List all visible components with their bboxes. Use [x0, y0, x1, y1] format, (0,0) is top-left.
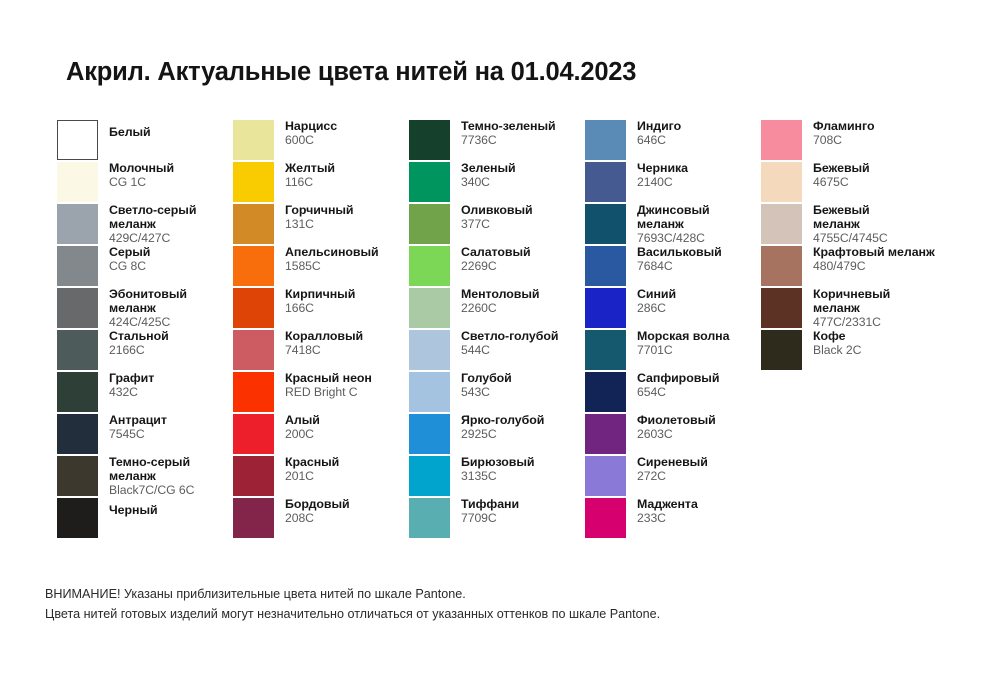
color-row[interactable]: Бежевыймеланж4755C/4745C — [761, 204, 957, 246]
color-row[interactable]: Черный — [57, 498, 233, 540]
color-code: 116C — [285, 176, 335, 190]
color-row[interactable]: Светло-серыймеланж429C/427C — [57, 204, 233, 246]
color-code: CG 8C — [109, 260, 150, 274]
color-labels: Бордовый208C — [285, 498, 350, 526]
color-row[interactable]: Темно-зеленый7736C — [409, 120, 585, 162]
color-code: Black 2C — [813, 344, 861, 358]
color-code: 432C — [109, 386, 154, 400]
color-name: Зеленый — [461, 162, 516, 176]
color-row[interactable]: Джинсовыймеланж7693C/428C — [585, 204, 761, 246]
color-labels: Белый — [109, 120, 151, 140]
color-swatch[interactable] — [233, 456, 274, 496]
color-code: 544C — [461, 344, 558, 358]
color-name: Антрацит — [109, 414, 167, 428]
color-swatch[interactable] — [233, 162, 274, 202]
color-chart-page: Акрил. Актуальные цвета нитей на 01.04.2… — [0, 0, 1000, 684]
color-code: 424C/425C — [109, 316, 187, 330]
color-row[interactable]: Горчичный131C — [233, 204, 409, 246]
color-swatch[interactable] — [409, 456, 450, 496]
color-labels: Бежевыймеланж4755C/4745C — [813, 204, 888, 245]
color-labels: Апельсиновый1585C — [285, 246, 379, 274]
color-name: Алый — [285, 414, 320, 428]
color-name: Темно-зеленый — [461, 120, 556, 134]
color-swatch[interactable] — [57, 162, 98, 202]
color-code: 4755C/4745C — [813, 232, 888, 246]
color-row[interactable]: Красный неонRED Bright C — [233, 372, 409, 414]
color-labels: Коралловый7418C — [285, 330, 363, 358]
color-swatch[interactable] — [585, 120, 626, 160]
footer-line-1: ВНИМАНИЕ! Указаны приблизительные цвета … — [45, 585, 660, 605]
color-labels: Черника2140C — [637, 162, 688, 190]
color-labels: Джинсовыймеланж7693C/428C — [637, 204, 710, 245]
color-row[interactable]: Коричневыймеланж477C/2331C — [761, 288, 957, 330]
color-labels: КофеBlack 2C — [813, 330, 861, 358]
color-swatch[interactable] — [585, 162, 626, 202]
color-name: Тиффани — [461, 498, 519, 512]
color-row[interactable]: Бордовый208C — [233, 498, 409, 540]
color-row[interactable]: Апельсиновый1585C — [233, 246, 409, 288]
color-name: Светло-голубой — [461, 330, 558, 344]
color-code: 7684C — [637, 260, 722, 274]
color-name: Горчичный — [285, 204, 353, 218]
color-code: 4675C — [813, 176, 870, 190]
color-labels: Бирюзовый3135C — [461, 456, 534, 484]
color-row[interactable]: Ментоловый2260C — [409, 288, 585, 330]
color-name: Ментоловый — [461, 288, 539, 302]
color-code: 708C — [813, 134, 874, 148]
color-code: CG 1C — [109, 176, 174, 190]
color-labels: Коричневыймеланж477C/2331C — [813, 288, 890, 329]
color-name: Красный — [285, 456, 339, 470]
color-swatch[interactable] — [761, 246, 802, 286]
color-labels: Алый200C — [285, 414, 320, 442]
color-labels: Нарцисс600C — [285, 120, 337, 148]
color-name: меланж — [109, 218, 196, 232]
color-labels: Графит432C — [109, 372, 154, 400]
color-labels: Сапфировый654C — [637, 372, 719, 400]
color-code: 340C — [461, 176, 516, 190]
color-code: 7545C — [109, 428, 167, 442]
color-name: Кофе — [813, 330, 861, 344]
color-name: Эбонитовый — [109, 288, 187, 302]
color-labels: Бежевый4675C — [813, 162, 870, 190]
color-labels: Зеленый340C — [461, 162, 516, 190]
color-code: 201C — [285, 470, 339, 484]
color-labels: Васильковый7684C — [637, 246, 722, 274]
column-blues: Индиго646CЧерника2140CДжинсовыймеланж769… — [585, 120, 761, 540]
column-warm: Нарцисс600CЖелтый116CГорчичный131CАпельс… — [233, 120, 409, 540]
color-name: Темно-серый — [109, 456, 194, 470]
color-labels: СерыйCG 8C — [109, 246, 150, 274]
color-row[interactable]: МолочныйCG 1C — [57, 162, 233, 204]
color-name: Коричневый — [813, 288, 890, 302]
footer-line-2: Цвета нитей готовых изделий могут незнач… — [45, 605, 660, 625]
color-row[interactable]: Кирпичный166C — [233, 288, 409, 330]
color-code: 7701C — [637, 344, 729, 358]
color-swatch[interactable] — [57, 204, 98, 244]
color-name: Васильковый — [637, 246, 722, 260]
color-labels: Красный201C — [285, 456, 339, 484]
color-code: 272C — [637, 470, 708, 484]
color-row[interactable]: Сиреневый272C — [585, 456, 761, 498]
color-labels: Крафтовый меланж480/479C — [813, 246, 935, 274]
color-labels: Морская волна7701C — [637, 330, 729, 358]
color-swatch[interactable] — [761, 204, 802, 244]
color-labels: Стальной2166C — [109, 330, 169, 358]
color-name: Красный неон — [285, 372, 372, 386]
color-code: Black7C/CG 6C — [109, 484, 194, 498]
color-code: 543C — [461, 386, 512, 400]
color-swatch[interactable] — [585, 456, 626, 496]
color-row[interactable]: Черника2140C — [585, 162, 761, 204]
color-labels: Горчичный131C — [285, 204, 353, 232]
color-labels: Индиго646C — [637, 120, 681, 148]
color-swatch[interactable] — [761, 288, 802, 328]
color-name: Желтый — [285, 162, 335, 176]
color-name: Голубой — [461, 372, 512, 386]
color-swatch[interactable] — [409, 162, 450, 202]
color-name: Крафтовый меланж — [813, 246, 935, 260]
color-name: Бирюзовый — [461, 456, 534, 470]
color-code: 2260C — [461, 302, 539, 316]
color-row[interactable]: Крафтовый меланж480/479C — [761, 246, 957, 288]
color-name: Бежевый — [813, 204, 888, 218]
color-name: Бежевый — [813, 162, 870, 176]
color-row[interactable]: Маджента233C — [585, 498, 761, 540]
color-name: Черника — [637, 162, 688, 176]
color-name: Оливковый — [461, 204, 533, 218]
color-swatch[interactable] — [585, 246, 626, 286]
color-labels: Черный — [109, 498, 158, 518]
color-swatch[interactable] — [57, 456, 98, 496]
footer-note: ВНИМАНИЕ! Указаны приблизительные цвета … — [45, 585, 660, 624]
color-row[interactable]: Сапфировый654C — [585, 372, 761, 414]
color-labels: Маджента233C — [637, 498, 698, 526]
color-swatch[interactable] — [585, 414, 626, 454]
color-swatch[interactable] — [409, 414, 450, 454]
color-swatch[interactable] — [57, 330, 98, 370]
column-neutrals: БелыйМолочныйCG 1CСветло-серыймеланж429C… — [57, 120, 233, 540]
color-code: 377C — [461, 218, 533, 232]
color-swatch[interactable] — [233, 120, 274, 160]
color-row[interactable]: Голубой543C — [409, 372, 585, 414]
color-labels: Антрацит7545C — [109, 414, 167, 442]
color-name: Маджента — [637, 498, 698, 512]
color-code: 480/479C — [813, 260, 935, 274]
color-swatch[interactable] — [233, 204, 274, 244]
color-name: меланж — [637, 218, 710, 232]
color-swatch[interactable] — [57, 120, 98, 160]
color-row[interactable]: Ярко-голубой2925C — [409, 414, 585, 456]
color-name: Бордовый — [285, 498, 350, 512]
color-labels: Фиолетовый2603C — [637, 414, 716, 442]
color-name: Сапфировый — [637, 372, 719, 386]
color-name: Морская волна — [637, 330, 729, 344]
color-labels: Синий286C — [637, 288, 676, 316]
color-row[interactable]: Оливковый377C — [409, 204, 585, 246]
color-row[interactable]: СерыйCG 8C — [57, 246, 233, 288]
color-code: 7736C — [461, 134, 556, 148]
color-labels: Светло-серыймеланж429C/427C — [109, 204, 196, 245]
color-labels: Голубой543C — [461, 372, 512, 400]
color-code: RED Bright C — [285, 386, 372, 400]
color-swatch[interactable] — [585, 288, 626, 328]
color-code: 600C — [285, 134, 337, 148]
color-labels: Ментоловый2260C — [461, 288, 539, 316]
color-swatch[interactable] — [409, 246, 450, 286]
color-swatch[interactable] — [761, 162, 802, 202]
color-name: Фламинго — [813, 120, 874, 134]
color-code: 286C — [637, 302, 676, 316]
color-code: 2925C — [461, 428, 544, 442]
color-row[interactable]: Коралловый7418C — [233, 330, 409, 372]
color-swatch[interactable] — [57, 414, 98, 454]
color-name: Светло-серый — [109, 204, 196, 218]
color-row[interactable]: Фламинго708C — [761, 120, 957, 162]
color-labels: Сиреневый272C — [637, 456, 708, 484]
color-code: 166C — [285, 302, 355, 316]
color-swatch[interactable] — [57, 246, 98, 286]
color-code: 208C — [285, 512, 350, 526]
color-labels: Красный неонRED Bright C — [285, 372, 372, 400]
color-name: Черный — [109, 498, 158, 518]
color-name: Ярко-голубой — [461, 414, 544, 428]
color-swatch[interactable] — [409, 372, 450, 412]
color-row[interactable]: Нарцисс600C — [233, 120, 409, 162]
color-row[interactable]: Стальной2166C — [57, 330, 233, 372]
color-swatch[interactable] — [233, 246, 274, 286]
color-labels: МолочныйCG 1C — [109, 162, 174, 190]
color-labels: Темно-серыймеланжBlack7C/CG 6C — [109, 456, 194, 497]
color-name: Салатовый — [461, 246, 531, 260]
color-swatch[interactable] — [585, 372, 626, 412]
color-code: 7709C — [461, 512, 519, 526]
color-row[interactable]: Зеленый340C — [409, 162, 585, 204]
color-row[interactable]: Тиффани7709C — [409, 498, 585, 540]
color-row[interactable]: Темно-серыймеланжBlack7C/CG 6C — [57, 456, 233, 498]
color-labels: Темно-зеленый7736C — [461, 120, 556, 148]
color-row[interactable]: Красный201C — [233, 456, 409, 498]
color-swatch[interactable] — [57, 372, 98, 412]
color-name: Графит — [109, 372, 154, 386]
color-code: 233C — [637, 512, 698, 526]
color-name: Кирпичный — [285, 288, 355, 302]
color-swatch[interactable] — [585, 498, 626, 538]
color-swatch[interactable] — [233, 372, 274, 412]
color-code: 2603C — [637, 428, 716, 442]
color-name: Индиго — [637, 120, 681, 134]
color-swatch[interactable] — [233, 414, 274, 454]
color-row[interactable]: Васильковый7684C — [585, 246, 761, 288]
color-row[interactable]: Белый — [57, 120, 233, 162]
column-greens: Темно-зеленый7736CЗеленый340CОливковый37… — [409, 120, 585, 540]
column-browns: Фламинго708CБежевый4675CБежевыймеланж475… — [761, 120, 957, 372]
color-name: Молочный — [109, 162, 174, 176]
color-labels: Салатовый2269C — [461, 246, 531, 274]
color-code: 654C — [637, 386, 719, 400]
color-swatch[interactable] — [585, 330, 626, 370]
color-swatch[interactable] — [233, 288, 274, 328]
color-code: 2140C — [637, 176, 688, 190]
swatch-columns: БелыйМолочныйCG 1CСветло-серыймеланж429C… — [57, 120, 957, 540]
color-name: Нарцисс — [285, 120, 337, 134]
color-code: 477C/2331C — [813, 316, 890, 330]
color-labels: Эбонитовыймеланж424C/425C — [109, 288, 187, 329]
color-name: Серый — [109, 246, 150, 260]
color-labels: Кирпичный166C — [285, 288, 355, 316]
color-row[interactable]: Алый200C — [233, 414, 409, 456]
color-name: Фиолетовый — [637, 414, 716, 428]
color-row[interactable]: Антрацит7545C — [57, 414, 233, 456]
color-code: 7693C/428C — [637, 232, 710, 246]
color-code: 2166C — [109, 344, 169, 358]
color-code: 200C — [285, 428, 320, 442]
color-row[interactable]: Желтый116C — [233, 162, 409, 204]
color-swatch[interactable] — [409, 330, 450, 370]
color-swatch[interactable] — [409, 204, 450, 244]
color-row[interactable]: Морская волна7701C — [585, 330, 761, 372]
color-row[interactable]: Салатовый2269C — [409, 246, 585, 288]
color-name: Коралловый — [285, 330, 363, 344]
color-labels: Ярко-голубой2925C — [461, 414, 544, 442]
color-swatch[interactable] — [233, 498, 274, 538]
color-name: Сиреневый — [637, 456, 708, 470]
color-labels: Оливковый377C — [461, 204, 533, 232]
color-row[interactable]: Бежевый4675C — [761, 162, 957, 204]
color-swatch[interactable] — [409, 120, 450, 160]
color-name: Белый — [109, 120, 151, 140]
color-name: Апельсиновый — [285, 246, 379, 260]
color-labels: Фламинго708C — [813, 120, 874, 148]
color-name: Стальной — [109, 330, 169, 344]
color-code: 2269C — [461, 260, 531, 274]
color-name: меланж — [109, 302, 187, 316]
color-code: 1585C — [285, 260, 379, 274]
color-name: меланж — [109, 470, 194, 484]
color-name: Джинсовый — [637, 204, 710, 218]
color-row[interactable]: КофеBlack 2C — [761, 330, 957, 372]
color-labels: Желтый116C — [285, 162, 335, 190]
color-row[interactable]: Фиолетовый2603C — [585, 414, 761, 456]
color-swatch[interactable] — [761, 330, 802, 370]
color-swatch[interactable] — [57, 288, 98, 328]
color-row[interactable]: Графит432C — [57, 372, 233, 414]
color-swatch[interactable] — [409, 498, 450, 538]
color-code: 131C — [285, 218, 353, 232]
color-labels: Тиффани7709C — [461, 498, 519, 526]
color-swatch[interactable] — [761, 120, 802, 160]
color-code: 3135C — [461, 470, 534, 484]
color-swatch[interactable] — [585, 204, 626, 244]
color-swatch[interactable] — [409, 288, 450, 328]
color-code: 429C/427C — [109, 232, 196, 246]
color-row[interactable]: Индиго646C — [585, 120, 761, 162]
color-swatch[interactable] — [57, 498, 98, 538]
color-row[interactable]: Синий286C — [585, 288, 761, 330]
color-code: 646C — [637, 134, 681, 148]
color-code: 7418C — [285, 344, 363, 358]
color-row[interactable]: Бирюзовый3135C — [409, 456, 585, 498]
color-name: меланж — [813, 218, 888, 232]
color-row[interactable]: Эбонитовыймеланж424C/425C — [57, 288, 233, 330]
color-swatch[interactable] — [233, 330, 274, 370]
color-name: меланж — [813, 302, 890, 316]
color-row[interactable]: Светло-голубой544C — [409, 330, 585, 372]
color-labels: Светло-голубой544C — [461, 330, 558, 358]
color-name: Синий — [637, 288, 676, 302]
page-title: Акрил. Актуальные цвета нитей на 01.04.2… — [66, 58, 636, 87]
